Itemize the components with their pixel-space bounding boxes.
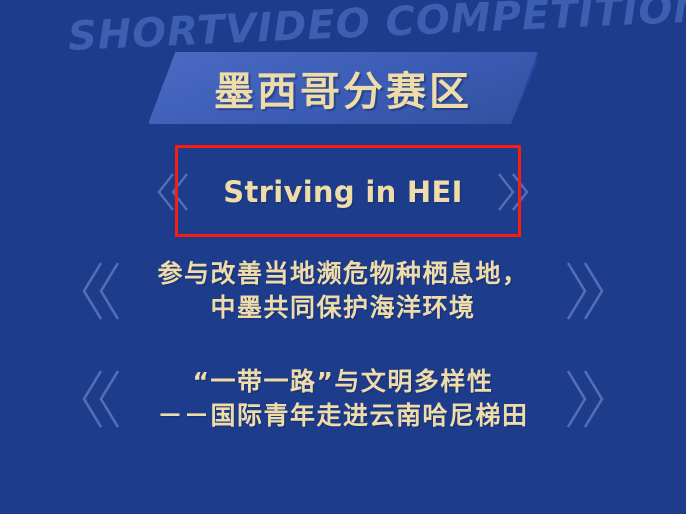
watermark-title: SHORTVIDEO COMPETITION bbox=[67, 0, 629, 60]
entry-belt-line-1: “一带一路”与文明多样性 bbox=[157, 365, 528, 399]
entry-habitat-line-1: 参与改善当地濒危物种栖息地， bbox=[157, 257, 528, 291]
chevron-double-left-icon bbox=[77, 258, 125, 324]
region-banner: 墨西哥分赛区 bbox=[148, 52, 538, 124]
chevron-double-left-icon bbox=[153, 170, 193, 214]
entry-habitat-line-2: 中墨共同保护海洋环境 bbox=[157, 291, 528, 325]
chevron-double-left-icon bbox=[77, 366, 125, 432]
chevron-double-right-icon bbox=[561, 366, 609, 432]
banner-title-text: 墨西哥分赛区 bbox=[148, 52, 538, 124]
entry-striving[interactable]: Striving in HEI bbox=[0, 156, 686, 228]
entry-habitat[interactable]: 参与改善当地濒危物种栖息地， 中墨共同保护海洋环境 bbox=[0, 248, 686, 334]
chevron-double-right-icon bbox=[493, 170, 533, 214]
entry-habitat-label: 参与改善当地濒危物种栖息地， 中墨共同保护海洋环境 bbox=[127, 257, 558, 325]
entry-striving-label: Striving in HEI bbox=[197, 175, 488, 209]
entry-belt-and-road-label: “一带一路”与文明多样性 －－国际青年走进云南哈尼梯田 bbox=[127, 365, 558, 433]
entry-belt-and-road[interactable]: “一带一路”与文明多样性 －－国际青年走进云南哈尼梯田 bbox=[0, 356, 686, 442]
slide-canvas: SHORTVIDEO COMPETITION 墨西哥分赛区 Striving i… bbox=[0, 0, 686, 514]
chevron-double-right-icon bbox=[561, 258, 609, 324]
entry-belt-line-2: －－国际青年走进云南哈尼梯田 bbox=[157, 399, 528, 433]
